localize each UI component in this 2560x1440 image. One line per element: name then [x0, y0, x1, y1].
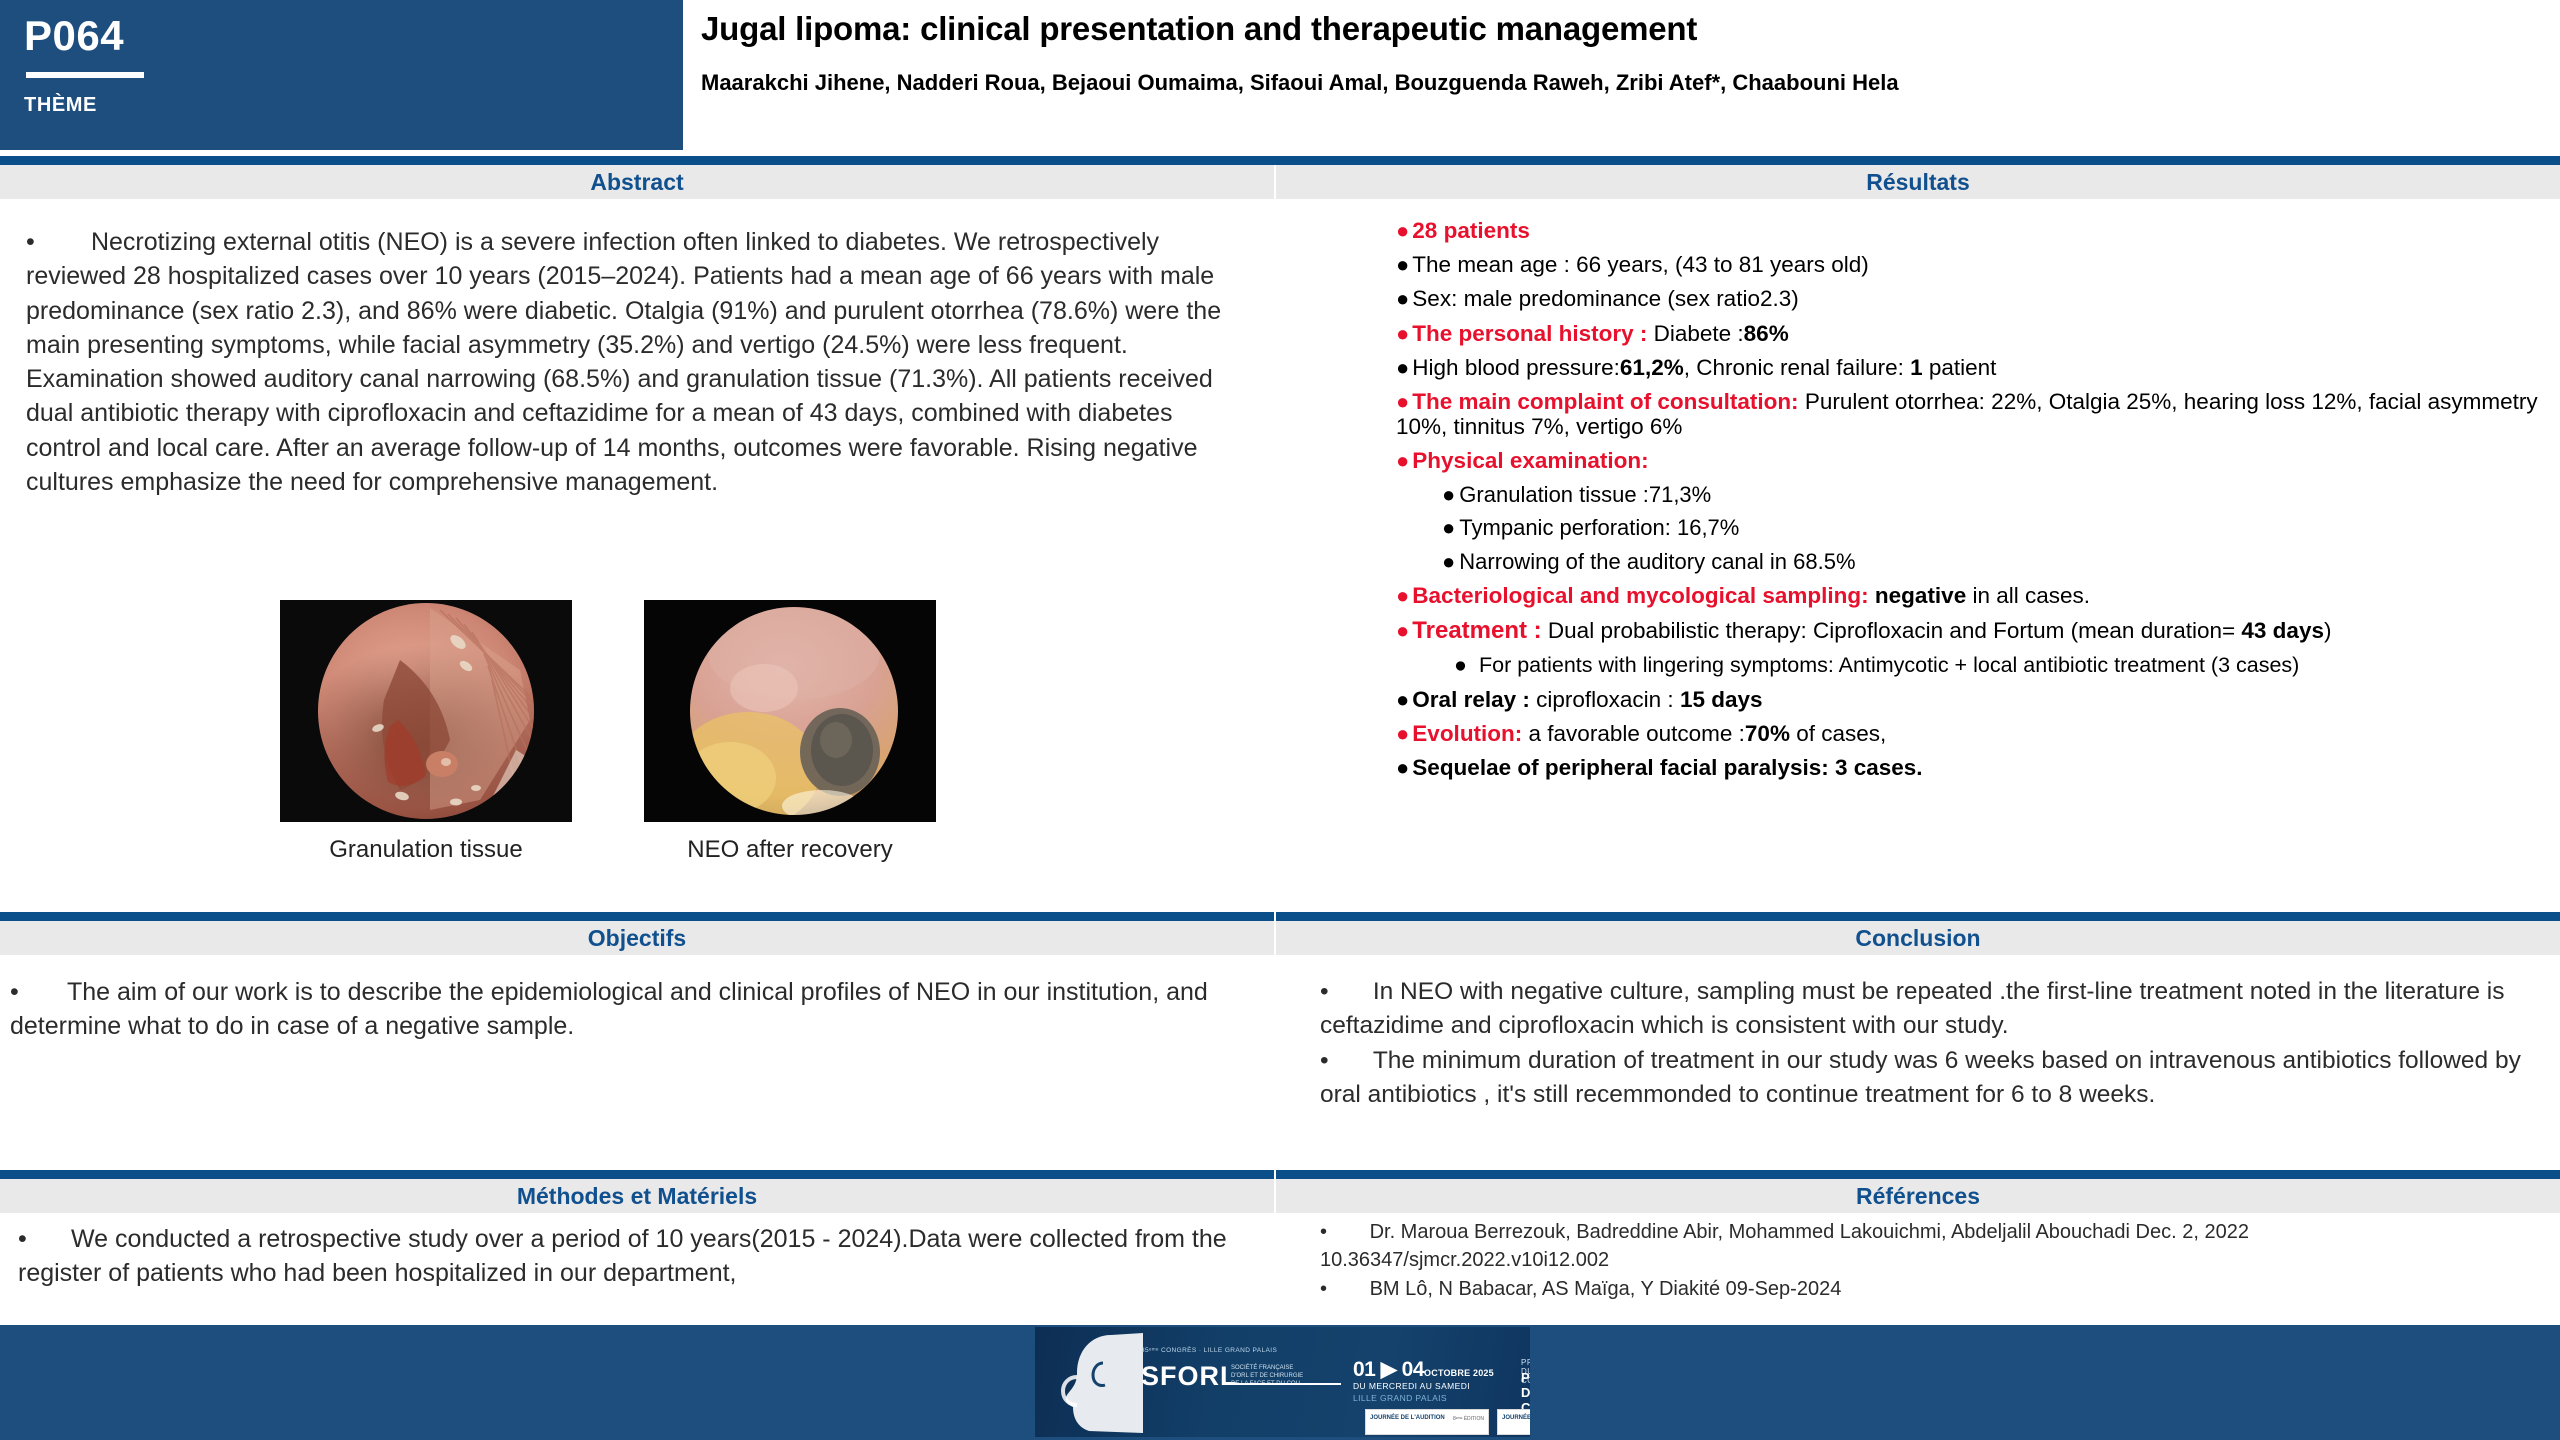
- result-label: Treatment :: [1412, 617, 1541, 644]
- methodes-content: • We conducted a retrospective study ove…: [18, 1222, 1268, 1293]
- section-header-references: Références: [1276, 1179, 2560, 1213]
- bullet-icon: ●: [1396, 687, 1409, 712]
- audition-day-chip: JOURNÉE DE L'AUDITION 8ᵉᵐᵉ ÉDITION: [1365, 1409, 1489, 1435]
- result-value: 70%: [1745, 721, 1790, 746]
- result-value-hta: 61,2%: [1620, 355, 1684, 380]
- result-label: Physical examination:: [1412, 448, 1648, 473]
- result-label: The personal history :: [1412, 321, 1647, 346]
- bullet-icon: •: [1320, 1275, 1350, 1303]
- result-treatment: ●Treatment : Dual probabilistic therapy:…: [1396, 618, 2546, 645]
- result-text: patient: [1923, 355, 1997, 380]
- conclusion-paragraph-1: • In NEO with negative culture, sampling…: [1320, 975, 2550, 1042]
- bullet-icon: ●: [1396, 448, 1409, 473]
- section-header-conclusion: Conclusion: [1276, 921, 2560, 955]
- reference-item: • BM Lô, N Babacar, AS Maïga, Y Diakité …: [1320, 1275, 2550, 1303]
- section-title-resultats: Résultats: [1866, 169, 1970, 196]
- result-sampling: ●Bacteriological and mycological samplin…: [1396, 583, 2546, 608]
- result-physical-exam-heading: ●Physical examination:: [1396, 448, 2546, 473]
- result-label: Bacteriological and mycological sampling…: [1412, 583, 1868, 608]
- page-title: Jugal lipoma: clinical presentation and …: [701, 0, 2560, 48]
- audition-chip-label: JOURNÉE DE L'AUDITION: [1370, 1415, 1445, 1422]
- objectifs-content: • The aim of our work is to describe the…: [10, 975, 1240, 1046]
- result-text: Diabete :: [1654, 321, 1744, 346]
- figure-caption: NEO after recovery: [644, 836, 936, 864]
- objectifs-paragraph: • The aim of our work is to describe the…: [10, 975, 1240, 1044]
- congress-venue: LILLE GRAND PALAIS: [1353, 1393, 1447, 1403]
- objectifs-text: The aim of our work is to describe the e…: [10, 978, 1208, 1040]
- bullet-icon: ●: [1442, 515, 1455, 540]
- figure-group: Granulation tissue: [280, 600, 960, 864]
- result-text: The mean age : 66 years, (43 to 81 years…: [1412, 252, 1869, 277]
- result-value: 68.5%: [1793, 549, 1855, 574]
- bullet-icon: ●: [1396, 218, 1409, 243]
- poster-header: P064 THÈME Jugal lipoma: clinical presen…: [0, 0, 2560, 156]
- result-label: Oral relay :: [1412, 687, 1530, 712]
- result-text: Narrowing of the auditory canal in: [1459, 549, 1793, 574]
- result-value: negative: [1869, 583, 1967, 608]
- bullet-icon: •: [1320, 975, 1350, 1009]
- banner-divider-rule: [1231, 1383, 1341, 1385]
- otoscopy-image-granulation: [280, 600, 572, 822]
- conclusion-text-2: The minimum duration of treatment in our…: [1320, 1047, 2521, 1108]
- badge-divider-rule: [26, 72, 144, 78]
- result-text: Dual probabilistic therapy: Ciprofloxaci…: [1542, 618, 2242, 643]
- congress-dates: 01 ▶ 04OCTOBRE 2025: [1353, 1357, 1494, 1382]
- otoscopy-image-recovery: [644, 600, 936, 822]
- header-title-block: Jugal lipoma: clinical presentation and …: [683, 0, 2560, 140]
- audition-chip-edition: 8ᵉᵐᵉ ÉDITION: [1453, 1416, 1484, 1422]
- section-divider-methodes: [0, 1170, 1274, 1179]
- figure-neo-after-recovery: NEO after recovery: [644, 600, 936, 864]
- section-title-references: Références: [1856, 1183, 1980, 1210]
- bullet-icon: ●: [1396, 583, 1409, 608]
- conclusion-paragraph-2: • The minimum duration of treatment in o…: [1320, 1044, 2550, 1111]
- section-header-methodes: Méthodes et Matériels: [0, 1179, 1274, 1213]
- abstract-text: Necrotizing external otitis (NEO) is a s…: [26, 228, 1221, 496]
- result-text: ): [2324, 618, 2332, 643]
- result-exam-item: ●Narrowing of the auditory canal in 68.5…: [1442, 550, 2546, 575]
- conclusion-text-1: In NEO with negative culture, sampling m…: [1320, 978, 2504, 1039]
- poster-theme-label: THÈME: [24, 94, 683, 117]
- figure-caption: Granulation tissue: [280, 836, 572, 864]
- conclusion-content: • In NEO with negative culture, sampling…: [1320, 975, 2550, 1113]
- methodes-text: We conducted a retrospective study over …: [18, 1225, 1227, 1287]
- bullet-icon: •: [26, 225, 56, 259]
- abstract-content: • Necrotizing external otitis (NEO) is a…: [26, 225, 1236, 499]
- reference-text-2: BM Lô, N Babacar, AS Maïga, Y Diakité 09…: [1370, 1278, 1842, 1300]
- author-list: Maarakchi Jihene, Nadderi Roua, Bejaoui …: [701, 48, 2560, 96]
- result-personal-history: ●The personal history : Diabete :86%: [1396, 321, 2546, 346]
- congress-month: OCTOBRE 2025: [1424, 1368, 1494, 1378]
- result-treatment-sub: ●For patients with lingering symptoms: A…: [1454, 653, 2546, 677]
- section-header-objectifs: Objectifs: [0, 921, 1274, 955]
- section-divider-conclusion: [1276, 912, 2560, 921]
- result-value: 43 days: [2241, 618, 2324, 643]
- bullet-icon: •: [18, 1222, 48, 1256]
- result-value: 15 days: [1680, 687, 1763, 712]
- abstract-paragraph: • Necrotizing external otitis (NEO) is a…: [26, 225, 1236, 499]
- result-text: Granulation tissue :: [1459, 482, 1649, 507]
- bullet-icon: ●: [1442, 549, 1455, 574]
- section-title-conclusion: Conclusion: [1855, 925, 1980, 952]
- reference-text-1: Dr. Maroua Berrezouk, Badreddine Abir, M…: [1370, 1221, 2249, 1243]
- result-label: Evolution:: [1412, 721, 1522, 746]
- result-text: a favorable outcome :: [1522, 721, 1745, 746]
- result-value: 71,3%: [1649, 482, 1711, 507]
- nurses-day-chip: JOURNÉE DES INFIRMIER(E)S 12ᵉᵐᵉ ÉDITION: [1497, 1409, 1530, 1435]
- nurses-chip-label: JOURNÉE DES INFIRMIER(E)S: [1502, 1415, 1530, 1422]
- section-title-abstract: Abstract: [590, 169, 683, 196]
- section-divider-objectifs: [0, 912, 1274, 921]
- result-exam-item: ●Tympanic perforation: 16,7%: [1442, 516, 2546, 541]
- poster-code-badge: P064 THÈME: [0, 0, 683, 150]
- sforl-logo-text: SFORL: [1141, 1361, 1238, 1392]
- result-text: High blood pressure:: [1412, 355, 1620, 380]
- result-text: 28 patients: [1412, 218, 1530, 243]
- congress-edition-label: 35ᵉᵐᵉ CONGRÈS · LILLE GRAND PALAIS: [1141, 1347, 1277, 1354]
- bullet-icon: ●: [1396, 618, 1409, 643]
- bullet-icon: ●: [1454, 653, 1467, 677]
- section-divider-references: [1276, 1170, 2560, 1179]
- bullet-icon: ●: [1396, 252, 1409, 277]
- reference-doi-text: 10.36347/sjmcr.2022.v10i12.002: [1320, 1249, 1609, 1271]
- result-text: Sequelae of peripheral facial paralysis:…: [1412, 755, 1922, 780]
- result-value: 16,7%: [1677, 515, 1739, 540]
- result-text: Tympanic perforation:: [1459, 515, 1677, 540]
- result-sex-ratio: ●Sex: male predominance (sex ratio2.3): [1396, 286, 2546, 311]
- result-patients-count: ●28 patients: [1396, 218, 2546, 243]
- bullet-icon: ●: [1396, 721, 1409, 746]
- reference-item: • Dr. Maroua Berrezouk, Badreddine Abir,…: [1320, 1218, 2550, 1246]
- references-content: • Dr. Maroua Berrezouk, Badreddine Abir,…: [1320, 1218, 2550, 1303]
- result-sequelae: ●Sequelae of peripheral facial paralysis…: [1396, 755, 2546, 780]
- bullet-icon: •: [10, 975, 40, 1009]
- figure-granulation-tissue: Granulation tissue: [280, 600, 572, 864]
- result-oral-relay: ●Oral relay : ciprofloxacin : 15 days: [1396, 687, 2546, 712]
- profile-silhouette-icon: [1047, 1333, 1143, 1433]
- resultats-content: ●28 patients ●The mean age : 66 years, (…: [1396, 218, 2546, 789]
- bullet-icon: ●: [1396, 755, 1409, 780]
- section-title-methodes: Méthodes et Matériels: [517, 1183, 757, 1210]
- congress-banner: 35ᵉᵐᵉ CONGRÈS · LILLE GRAND PALAIS SFORL…: [1035, 1327, 1530, 1437]
- poster-code: P064: [24, 14, 683, 58]
- result-value: 3 cases: [2218, 653, 2292, 677]
- reference-doi: 10.36347/sjmcr.2022.v10i12.002: [1320, 1246, 2550, 1274]
- result-text: ciprofloxacin :: [1530, 687, 1680, 712]
- bullet-icon: ●: [1442, 482, 1455, 507]
- bullet-icon: ●: [1396, 321, 1409, 346]
- bullet-icon: •: [1320, 1218, 1350, 1246]
- section-header-abstract: Abstract: [0, 165, 1274, 199]
- result-evolution: ●Evolution: a favorable outcome :70% of …: [1396, 721, 2546, 746]
- section-header-resultats: Résultats: [1276, 165, 2560, 199]
- result-value: 86%: [1744, 321, 1789, 346]
- methodes-paragraph: • We conducted a retrospective study ove…: [18, 1222, 1268, 1291]
- result-mean-age: ●The mean age : 66 years, (43 to 81 year…: [1396, 252, 2546, 277]
- section-divider-top: [0, 156, 2560, 165]
- result-exam-item: ●Granulation tissue :71,3%: [1442, 483, 2546, 508]
- result-label: The main complaint of consultation:: [1412, 389, 1798, 414]
- bullet-icon: ●: [1396, 355, 1409, 380]
- bullet-icon: •: [1320, 1044, 1350, 1078]
- result-text: Sex: male predominance (sex ratio2.3): [1412, 286, 1798, 311]
- result-text: in all cases.: [1966, 583, 2090, 608]
- bullet-icon: ●: [1396, 286, 1409, 311]
- congress-days: DU MERCREDI AU SAMEDI: [1353, 1381, 1470, 1391]
- result-comorbidities: ●High blood pressure:61,2%, Chronic rena…: [1396, 355, 2546, 380]
- section-title-objectifs: Objectifs: [588, 925, 686, 952]
- result-text: ): [2292, 653, 2299, 677]
- result-text: of cases,: [1790, 721, 1886, 746]
- result-value-crf: 1: [1910, 355, 1923, 380]
- congress-dates-value: 01 ▶ 04: [1353, 1358, 1424, 1381]
- result-main-complaint: ●The main complaint of consultation: Pur…: [1396, 389, 2546, 439]
- result-text: , Chronic renal failure:: [1684, 355, 1910, 380]
- result-text: For patients with lingering symptoms: An…: [1479, 653, 2218, 677]
- bullet-icon: ●: [1396, 389, 1409, 414]
